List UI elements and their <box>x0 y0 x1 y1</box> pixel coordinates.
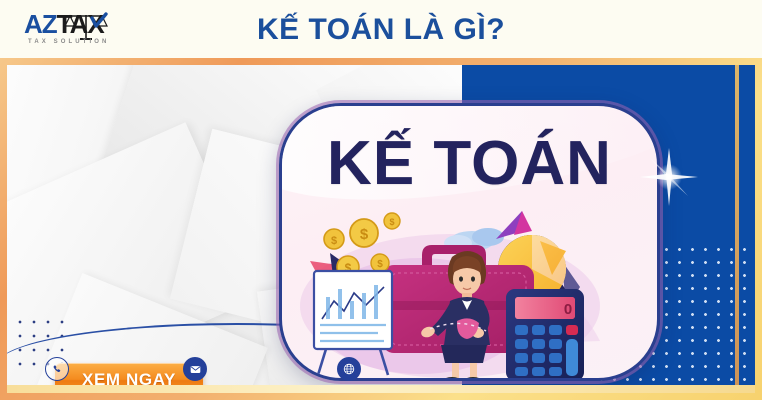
svg-text:$: $ <box>360 226 369 243</box>
envelope-icon[interactable] <box>183 357 207 381</box>
gold-frame: KẾ TOÁN <box>0 58 762 400</box>
globe-icon[interactable] <box>337 357 361 381</box>
contact-icons-row <box>7 353 462 383</box>
bottom-gold-strip <box>7 385 755 393</box>
hero-card: KẾ TOÁN <box>279 103 660 381</box>
globe-glyph <box>343 363 355 375</box>
banner-root: AZTAX TAX SOLUTION KẾ TOÁN LÀ GÌ? <box>0 0 762 400</box>
svg-text:$: $ <box>331 235 337 247</box>
gold-vertical-stripe <box>735 65 739 393</box>
card-headline: KẾ TOÁN <box>282 132 657 196</box>
header-bar: AZTAX TAX SOLUTION KẾ TOÁN LÀ GÌ? <box>0 0 762 58</box>
envelope-glyph <box>190 365 201 374</box>
svg-text:$: $ <box>377 259 383 270</box>
arrow-up-icon <box>496 211 532 239</box>
calculator-graphic: 0 <box>506 289 584 379</box>
frame-inner: KẾ TOÁN <box>7 65 755 393</box>
calculator-display: 0 <box>564 301 572 318</box>
phone-glyph <box>52 364 63 375</box>
svg-text:$: $ <box>389 217 394 227</box>
phone-icon[interactable] <box>45 357 69 381</box>
page-title: KẾ TOÁN LÀ GÌ? <box>0 14 762 46</box>
